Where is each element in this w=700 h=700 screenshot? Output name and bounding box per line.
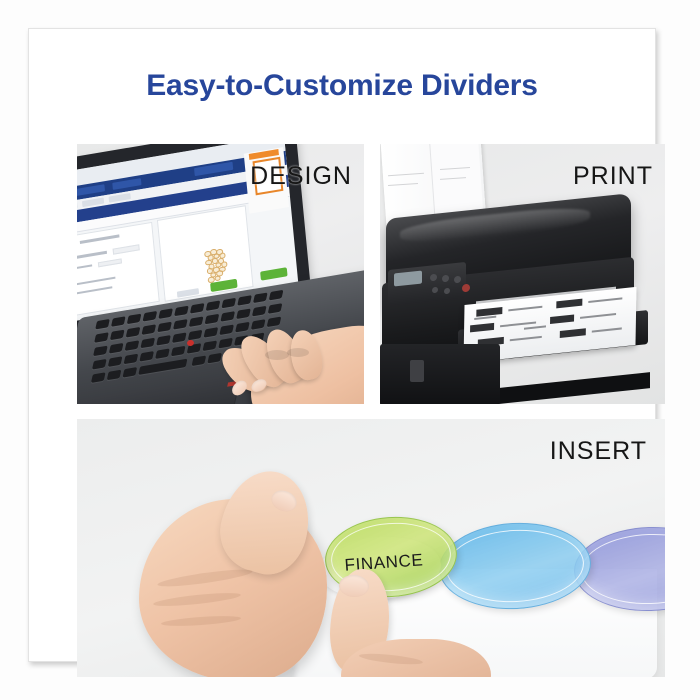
- page-title: Easy-to-Customize Dividers: [29, 69, 655, 103]
- product-image: Easy-to-Customize Dividers: [0, 0, 700, 700]
- right-hand: [295, 569, 485, 677]
- app-form-panel: [77, 222, 160, 318]
- printer-front-foot: [500, 372, 650, 404]
- app-preview-panel: [157, 205, 254, 302]
- printer-left-base: [380, 344, 500, 404]
- printer-memory-slot: [410, 360, 424, 382]
- hand-on-keyboard: [213, 320, 364, 404]
- panel-design: DESIGN: [77, 144, 364, 404]
- panel-print: PRINT: [380, 144, 665, 404]
- product-card: Easy-to-Customize Dividers: [28, 28, 656, 662]
- panel-label-design: DESIGN: [250, 162, 352, 191]
- panel-label-print: PRINT: [573, 162, 653, 191]
- panel-insert: FINANCE INSERT: [77, 419, 665, 677]
- panel-label-insert: INSERT: [550, 437, 647, 466]
